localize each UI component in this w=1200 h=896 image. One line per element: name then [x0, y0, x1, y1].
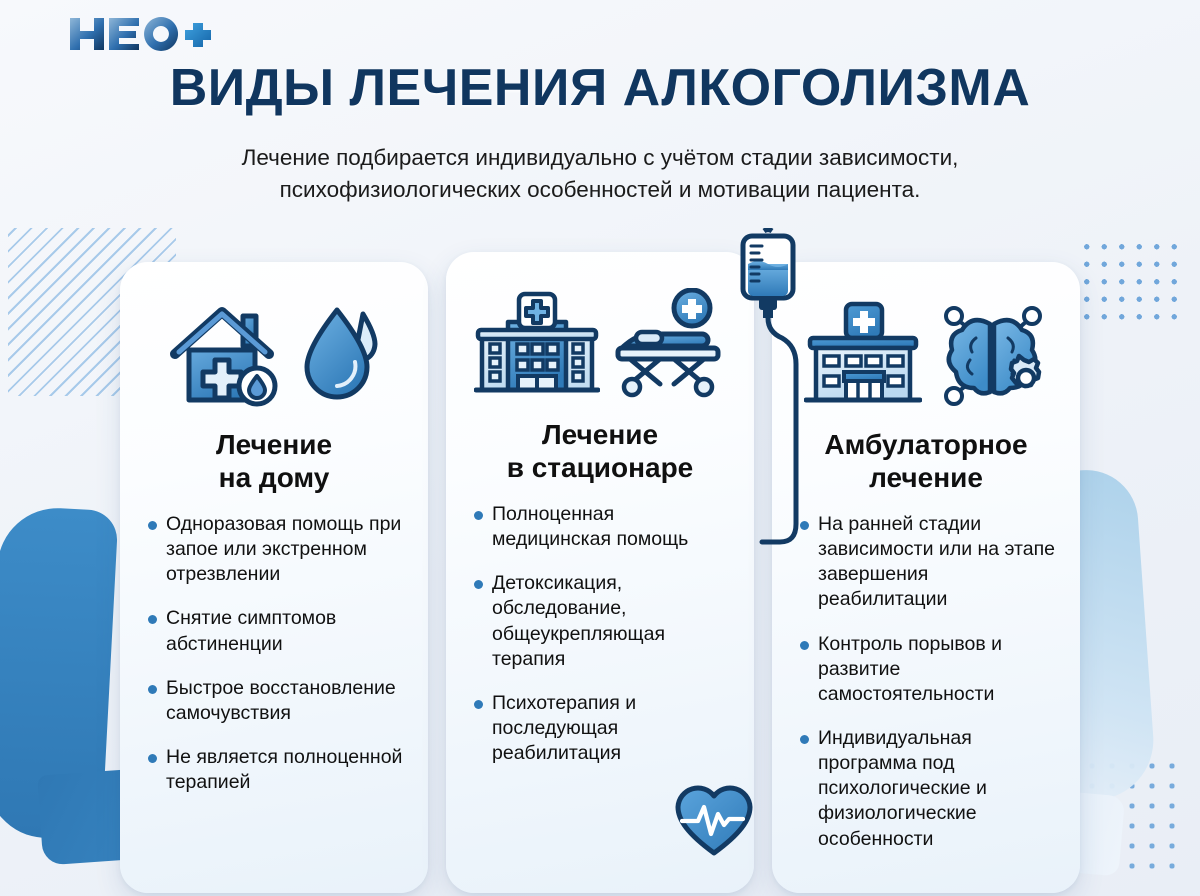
bullet-dot-icon: [474, 511, 483, 520]
card-title: Лечение в стационаре: [464, 418, 736, 484]
bullet-list: Полноценная медицинская помощь Детоксика…: [464, 502, 736, 766]
list-item: Полноценная медицинская помощь: [474, 502, 734, 552]
bullet-text: Одноразовая помощь при запое или экстрен…: [166, 512, 408, 587]
cards-row: Лечение на дому Одноразовая помощь при з…: [0, 252, 1200, 893]
page-subtitle-line-2: психофизиологических особенностей и моти…: [90, 174, 1110, 206]
bullet-text: Снятие симптомов абстиненции: [166, 606, 408, 656]
bullet-text: Индивидуальная программа под психологиче…: [818, 726, 1060, 852]
bullet-list: Одноразовая помощь при запое или экстрен…: [138, 512, 410, 795]
card-home-treatment[interactable]: Лечение на дому Одноразовая помощь при з…: [120, 262, 428, 893]
card-title-line-1: Лечение: [464, 418, 736, 451]
bullet-dot-icon: [148, 685, 157, 694]
bullet-dot-icon: [800, 641, 809, 650]
list-item: Индивидуальная программа под психологиче…: [800, 726, 1060, 852]
card-title-line-1: Амбулаторное: [790, 428, 1062, 461]
bullet-text: Психотерапия и последующая реабилитация: [492, 691, 734, 766]
brain-gear-icon: [936, 298, 1048, 410]
bullet-text: Быстрое восстановление самочувствия: [166, 676, 408, 726]
infographic-canvas: НЕО+ ВИДЫ ЛЕЧЕНИЯ АЛКОГОЛИЗМА Лечение по…: [0, 0, 1200, 896]
bullet-text: Полноценная медицинская помощь: [492, 502, 734, 552]
bullet-dot-icon: [474, 700, 483, 709]
card-title-line-2: на дому: [138, 461, 410, 494]
bullet-list: На ранней стадии зависимости или на этап…: [790, 512, 1062, 852]
medical-gurney-icon: [614, 288, 726, 400]
card-title-line-2: в стационаре: [464, 451, 736, 484]
bullet-text: На ранней стадии зависимости или на этап…: [818, 512, 1060, 613]
list-item: Контроль порывов и развитие самостоятель…: [800, 632, 1060, 707]
clinic-building-icon: [804, 298, 922, 410]
bullet-dot-icon: [148, 615, 157, 624]
brand-logo[interactable]: НЕО+: [66, 12, 226, 56]
heart-pulse-icon: [672, 780, 756, 865]
bullet-text: Детоксикация, обследование, общеукрепляю…: [492, 571, 734, 672]
list-item: Быстрое восстановление самочувствия: [148, 676, 408, 726]
card-icons: [790, 288, 1062, 420]
card-title-line-1: Лечение: [138, 428, 410, 461]
page-title: ВИДЫ ЛЕЧЕНИЯ АЛКОГОЛИЗМА: [0, 58, 1200, 118]
bullet-dot-icon: [148, 754, 157, 763]
card-title: Лечение на дому: [138, 428, 410, 494]
card-icons: [138, 288, 410, 420]
card-title-line-2: лечение: [790, 461, 1062, 494]
iv-drip-icon: [726, 228, 810, 563]
list-item: Психотерапия и последующая реабилитация: [474, 691, 734, 766]
neo-plus-logo-icon: [66, 12, 226, 56]
card-outpatient-treatment[interactable]: Амбулаторное лечение На ранней стадии за…: [772, 262, 1080, 893]
list-item: Детоксикация, обследование, общеукрепляю…: [474, 571, 734, 672]
bullet-text: Контроль порывов и развитие самостоятель…: [818, 632, 1060, 707]
list-item: На ранней стадии зависимости или на этап…: [800, 512, 1060, 613]
page-subtitle-line-1: Лечение подбирается индивидуально с учёт…: [90, 142, 1110, 174]
bullet-text: Не является полноценной терапией: [166, 745, 408, 795]
bullet-dot-icon: [148, 521, 157, 530]
water-drop-icon: [299, 300, 381, 408]
list-item: Снятие симптомов абстиненции: [148, 606, 408, 656]
card-icons: [464, 278, 736, 410]
house-medical-cross-icon: [167, 298, 285, 410]
bullet-dot-icon: [800, 735, 809, 744]
card-title: Амбулаторное лечение: [790, 428, 1062, 494]
hospital-building-icon: [474, 288, 600, 400]
bullet-dot-icon: [474, 580, 483, 589]
list-item: Не является полноценной терапией: [148, 745, 408, 795]
list-item: Одноразовая помощь при запое или экстрен…: [148, 512, 408, 587]
page-subtitle: Лечение подбирается индивидуально с учёт…: [0, 142, 1200, 206]
